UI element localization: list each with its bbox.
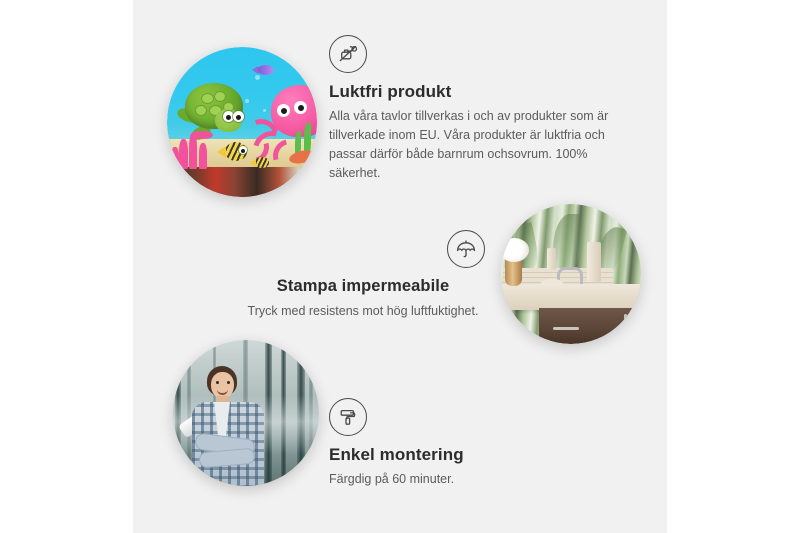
feature-title: Luktfri produkt xyxy=(329,82,629,102)
bathroom-wallpaper-photo xyxy=(501,204,641,344)
feature-assembly: Enkel montering Färgdig på 60 minuter. xyxy=(329,398,609,489)
feature-title: Enkel montering xyxy=(329,445,609,465)
feature-body: Alla våra tavlor tillverkas i och av pro… xyxy=(329,107,615,183)
no-fragrance-icon xyxy=(329,35,367,73)
screenshot-stage: Luktfri produkt Alla våra tavlor tillver… xyxy=(0,0,800,533)
feature-title: Stampa impermeabile xyxy=(193,277,533,297)
forest-decorator-photo xyxy=(173,340,319,486)
infographic-canvas: Luktfri produkt Alla våra tavlor tillver… xyxy=(133,0,667,533)
icon-wrapper xyxy=(193,230,533,268)
feature-waterproof: Stampa impermeabile Tryck med resistens … xyxy=(193,230,533,321)
underwater-cartoon-photo xyxy=(167,47,317,197)
feature-odourless: Luktfri produkt Alla våra tavlor tillver… xyxy=(329,35,629,183)
feature-body: Färgdig på 60 minuter. xyxy=(329,470,609,489)
feature-body: Tryck med resistens mot hög luftfuktighe… xyxy=(193,302,533,321)
paint-roller-icon xyxy=(329,398,367,436)
umbrella-icon xyxy=(447,230,485,268)
